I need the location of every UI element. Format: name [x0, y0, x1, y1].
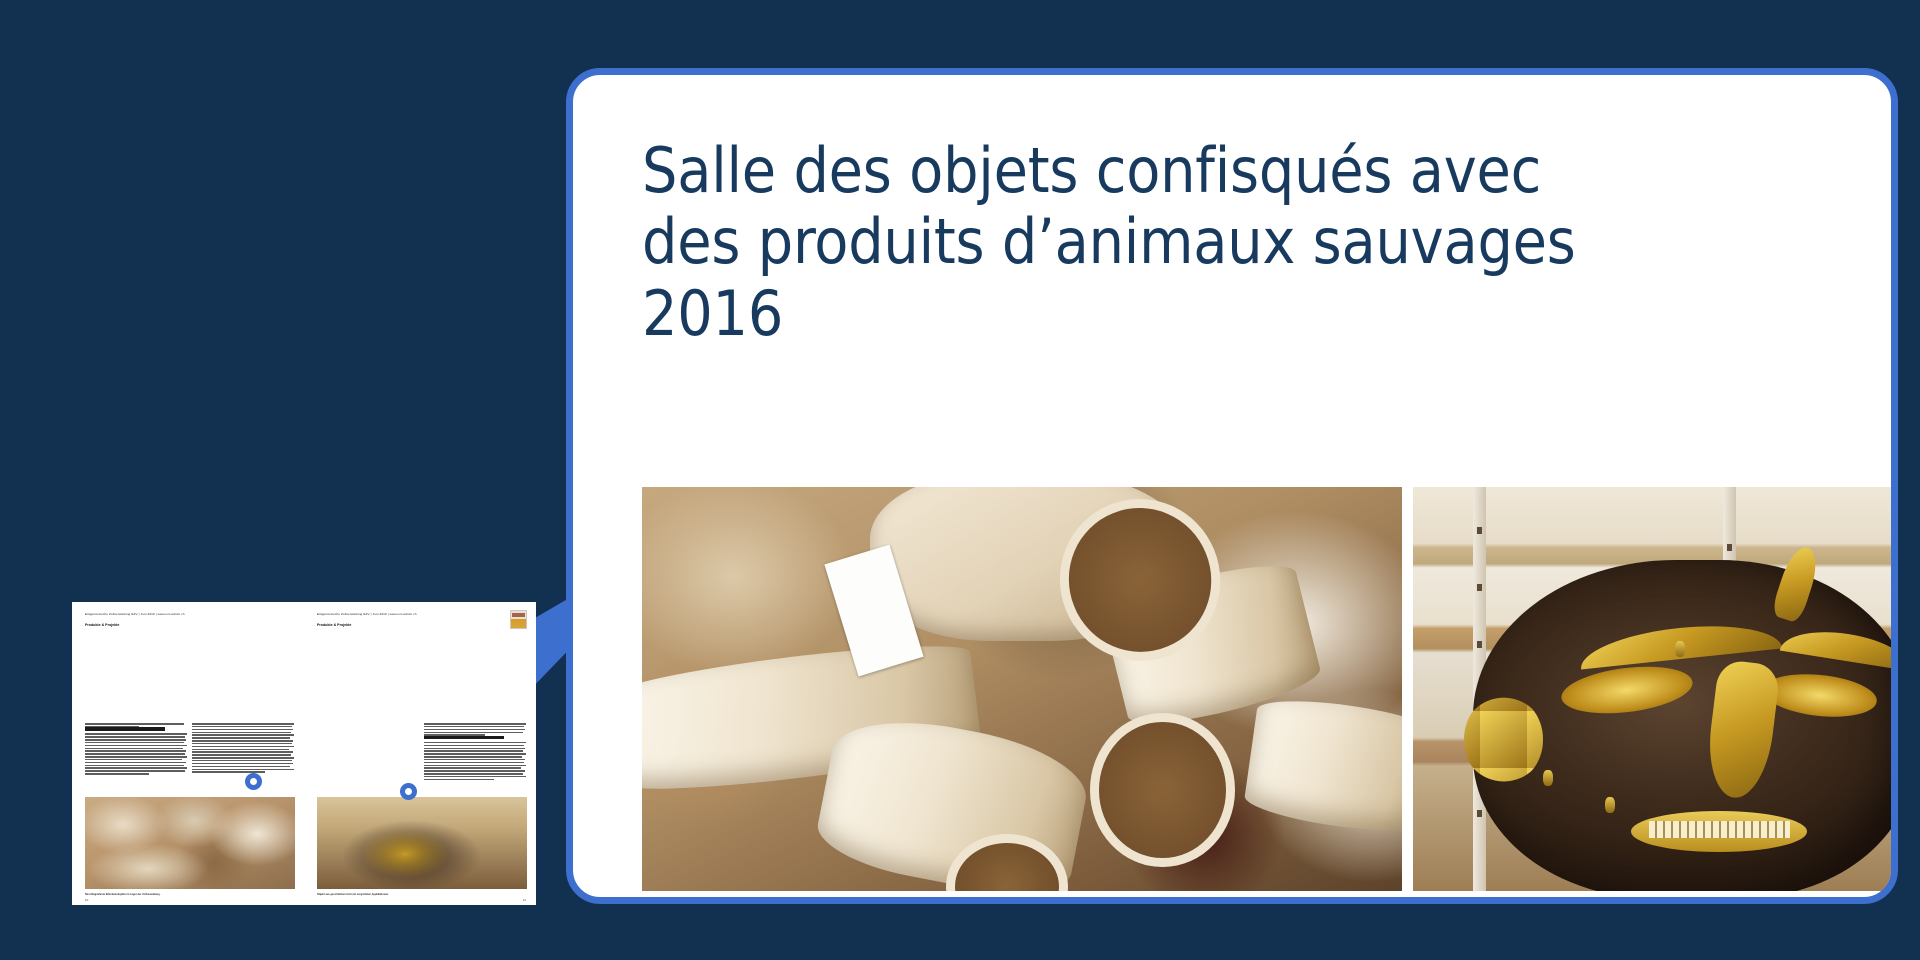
thumbnail-photo-ivory	[85, 797, 295, 889]
thumbnail-photo-caption: Beschlagnahmte Elfenbeinobjekte im Lager…	[85, 893, 295, 896]
connector-endpoint-dot-2[interactable]	[400, 783, 417, 800]
thumbnail-section-title: Produkte & Projekte	[85, 623, 294, 627]
thumbnail-subheading	[85, 727, 165, 730]
publication-logo-badge	[510, 610, 527, 629]
thumbnail-body-text	[85, 733, 188, 774]
thumbnail-page-number: 10	[85, 898, 88, 902]
thumbnail-header: Eidgenössische Zollverwaltung EZV | Juni…	[85, 612, 294, 627]
slide-stage: Eidgenössische Zollverwaltung EZV | Juni…	[0, 0, 1920, 960]
thumbnail-page-number: 11	[523, 898, 526, 902]
thumbnail-subheading	[424, 736, 504, 739]
thumbnail-meta-line: Eidgenössische Zollverwaltung EZV | Juni…	[317, 612, 526, 616]
magazine-page-thumbnail-1[interactable]: Eidgenössische Zollverwaltung EZV | Juni…	[72, 602, 304, 905]
thumbnail-section-title: Produkte & Projekte	[317, 623, 526, 627]
thumbnail-body-text	[424, 723, 527, 736]
card-title: Salle des objets confisqués avec des pro…	[642, 135, 1851, 349]
thumbnail-body-text	[85, 723, 188, 727]
thumbnail-photo-caption: Objekt aus geschütztem Holz mit vergolde…	[317, 893, 527, 896]
magazine-page-thumbnail-2[interactable]: Eidgenössische Zollverwaltung EZV | Juni…	[304, 602, 536, 905]
connector-endpoint-dot-1[interactable]	[245, 773, 262, 790]
thumbnail-body-text	[192, 723, 295, 773]
confiscated-mask-photo	[1413, 487, 1898, 891]
card-image-row	[642, 487, 1898, 891]
thumbnail-meta-line: Eidgenössische Zollverwaltung EZV | Juni…	[85, 612, 294, 616]
thumbnail-body-text	[424, 742, 527, 780]
zoomed-slide-card[interactable]: Salle des objets confisqués avec des pro…	[566, 68, 1898, 904]
thumbnail-photo-mask	[317, 797, 527, 889]
thumbnail-header: Eidgenössische Zollverwaltung EZV | Juni…	[317, 612, 526, 627]
confiscated-ivory-photo	[642, 487, 1402, 891]
